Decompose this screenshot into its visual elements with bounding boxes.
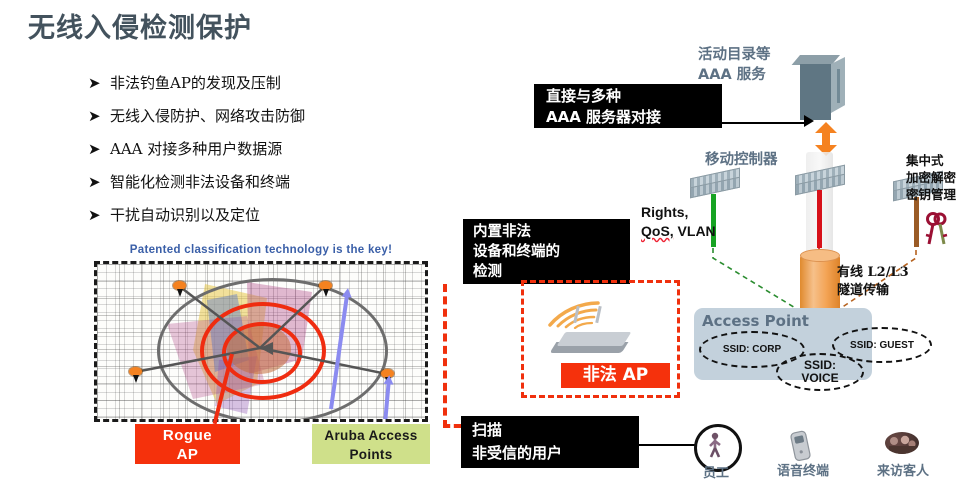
label-access-point: Access Point — [702, 312, 809, 330]
bullet-list: ➤ 非法钓鱼AP的发现及压制 ➤ 无线入侵防护、网络攻击防御 ➤ AAA 对接多… — [88, 72, 448, 237]
label-wired-tunnel: 有线 L2/L3 隧道传输 — [837, 264, 909, 300]
label-qos: QoS, — [641, 223, 674, 239]
ssid-voice-line2: VOICE — [801, 371, 838, 385]
arrow-bullet-icon: ➤ — [88, 204, 110, 226]
callout-scan-line2: 非受信的用户 — [472, 444, 562, 462]
voice-terminal-icon — [788, 430, 814, 462]
server-icon — [800, 55, 852, 120]
callout-aaa-arrowhead-icon — [804, 115, 814, 127]
rogue-router-icon — [553, 322, 637, 356]
label-key-management-line1: 集中式 — [906, 153, 944, 168]
label-rogue-ap-line2: AP — [177, 446, 199, 463]
callout-aaa-integration: 直接与多种 AAA 服务器对接 — [534, 84, 722, 128]
callout-rogue-detection-line1: 内置非法 — [473, 224, 531, 240]
page-title: 无线入侵检测保护 — [28, 6, 252, 45]
list-item: ➤ 干扰自动识别以及定位 — [88, 204, 448, 228]
label-rogue-ap-cn: 非法 AP — [561, 363, 670, 388]
callout-aaa-line2: AAA 服务器对接 — [546, 108, 661, 126]
floorplan-figure: Patented classification technology is th… — [90, 244, 432, 474]
guest-icon — [885, 432, 919, 454]
rogue-zone-bracket — [443, 284, 461, 428]
label-aruba-line1: Aruba Access — [324, 428, 417, 443]
callout-rogue-detection-line3: 检测 — [473, 264, 502, 280]
bidirectional-arrow-icon — [815, 122, 837, 156]
access-point-marker — [319, 281, 332, 290]
list-item-label: 干扰自动识别以及定位 — [110, 204, 260, 226]
label-rogue-ap: Rogue AP — [135, 424, 240, 464]
employee-icon — [708, 432, 722, 458]
label-aruba-access-points: Aruba Access Points — [312, 424, 430, 464]
arrow-bullet-icon: ➤ — [88, 72, 110, 94]
controller-icon — [795, 166, 853, 192]
arrow-bullet-icon: ➤ — [88, 171, 110, 193]
controller-icon — [690, 169, 748, 195]
access-point-marker — [129, 367, 142, 376]
label-aaa-service: 活动目录等 AAA 服务 — [698, 45, 771, 85]
callout-aaa-leader-line — [722, 122, 806, 124]
label-guest: 来访客人 — [872, 460, 934, 479]
label-key-management-line2: 加密解密 — [906, 170, 956, 185]
callout-aaa-line1: 直接与多种 — [546, 87, 621, 105]
arrow-bullet-icon: ➤ — [88, 105, 110, 127]
label-rogue-ap-line1: Rogue — [163, 427, 212, 444]
label-aaa-service-line1: 活动目录等 — [698, 47, 771, 63]
floorplan-caption: Patented classification technology is th… — [90, 244, 432, 256]
list-item-label: 无线入侵防护、网络攻击防御 — [110, 105, 305, 127]
list-item-label: 智能化检测非法设备和终端 — [110, 171, 290, 193]
access-point-marker — [173, 281, 186, 290]
label-key-management-line3: 密钥管理 — [906, 187, 956, 202]
label-rights-line1: Rights, — [641, 204, 688, 220]
callout-scan-untrusted-users: 扫描 非受信的用户 — [461, 416, 639, 468]
label-vlan: VLAN — [674, 223, 716, 239]
ssid-voice-badge: SSID: VOICE — [776, 353, 864, 391]
list-item-label: 非法钓鱼AP的发现及压制 — [110, 72, 281, 94]
label-key-management: 集中式 加密解密 密钥管理 — [906, 152, 956, 203]
arrow-bullet-icon: ➤ — [88, 138, 110, 160]
list-item: ➤ 无线入侵防护、网络攻击防御 — [88, 105, 448, 129]
list-item: ➤ AAA 对接多种用户数据源 — [88, 138, 448, 162]
label-employee: 员工 — [690, 462, 742, 481]
callout-rogue-detection-line2: 设备和终端的 — [473, 244, 560, 260]
label-mobility-controller: 移动控制器 — [705, 148, 778, 169]
label-rights-qos-vlan: Rights, QoS, VLAN — [641, 203, 716, 241]
wired-tunnel-cylinder-top — [800, 249, 840, 262]
callout-scan-line1: 扫描 — [472, 421, 502, 439]
label-aruba-line2: Points — [349, 447, 392, 462]
triangulation-lines — [97, 264, 428, 422]
label-wired-tunnel-line2: 隧道传输 — [837, 283, 889, 298]
ssid-voice-line1: SSID: — [804, 358, 836, 372]
callout-rogue-detection: 内置非法 设备和终端的 检测 — [463, 219, 630, 284]
label-wired-tunnel-line1: 有线 L2/L3 — [837, 265, 909, 280]
label-voice-terminal: 语音终端 — [772, 460, 834, 479]
floorplan-image — [94, 261, 428, 422]
list-item-label: AAA 对接多种用户数据源 — [110, 138, 282, 160]
list-item: ➤ 非法钓鱼AP的发现及压制 — [88, 72, 448, 96]
callout-scan-leader-line — [639, 444, 695, 446]
label-aaa-service-line2: AAA 服务 — [698, 67, 766, 83]
list-item: ➤ 智能化检测非法设备和终端 — [88, 171, 448, 195]
